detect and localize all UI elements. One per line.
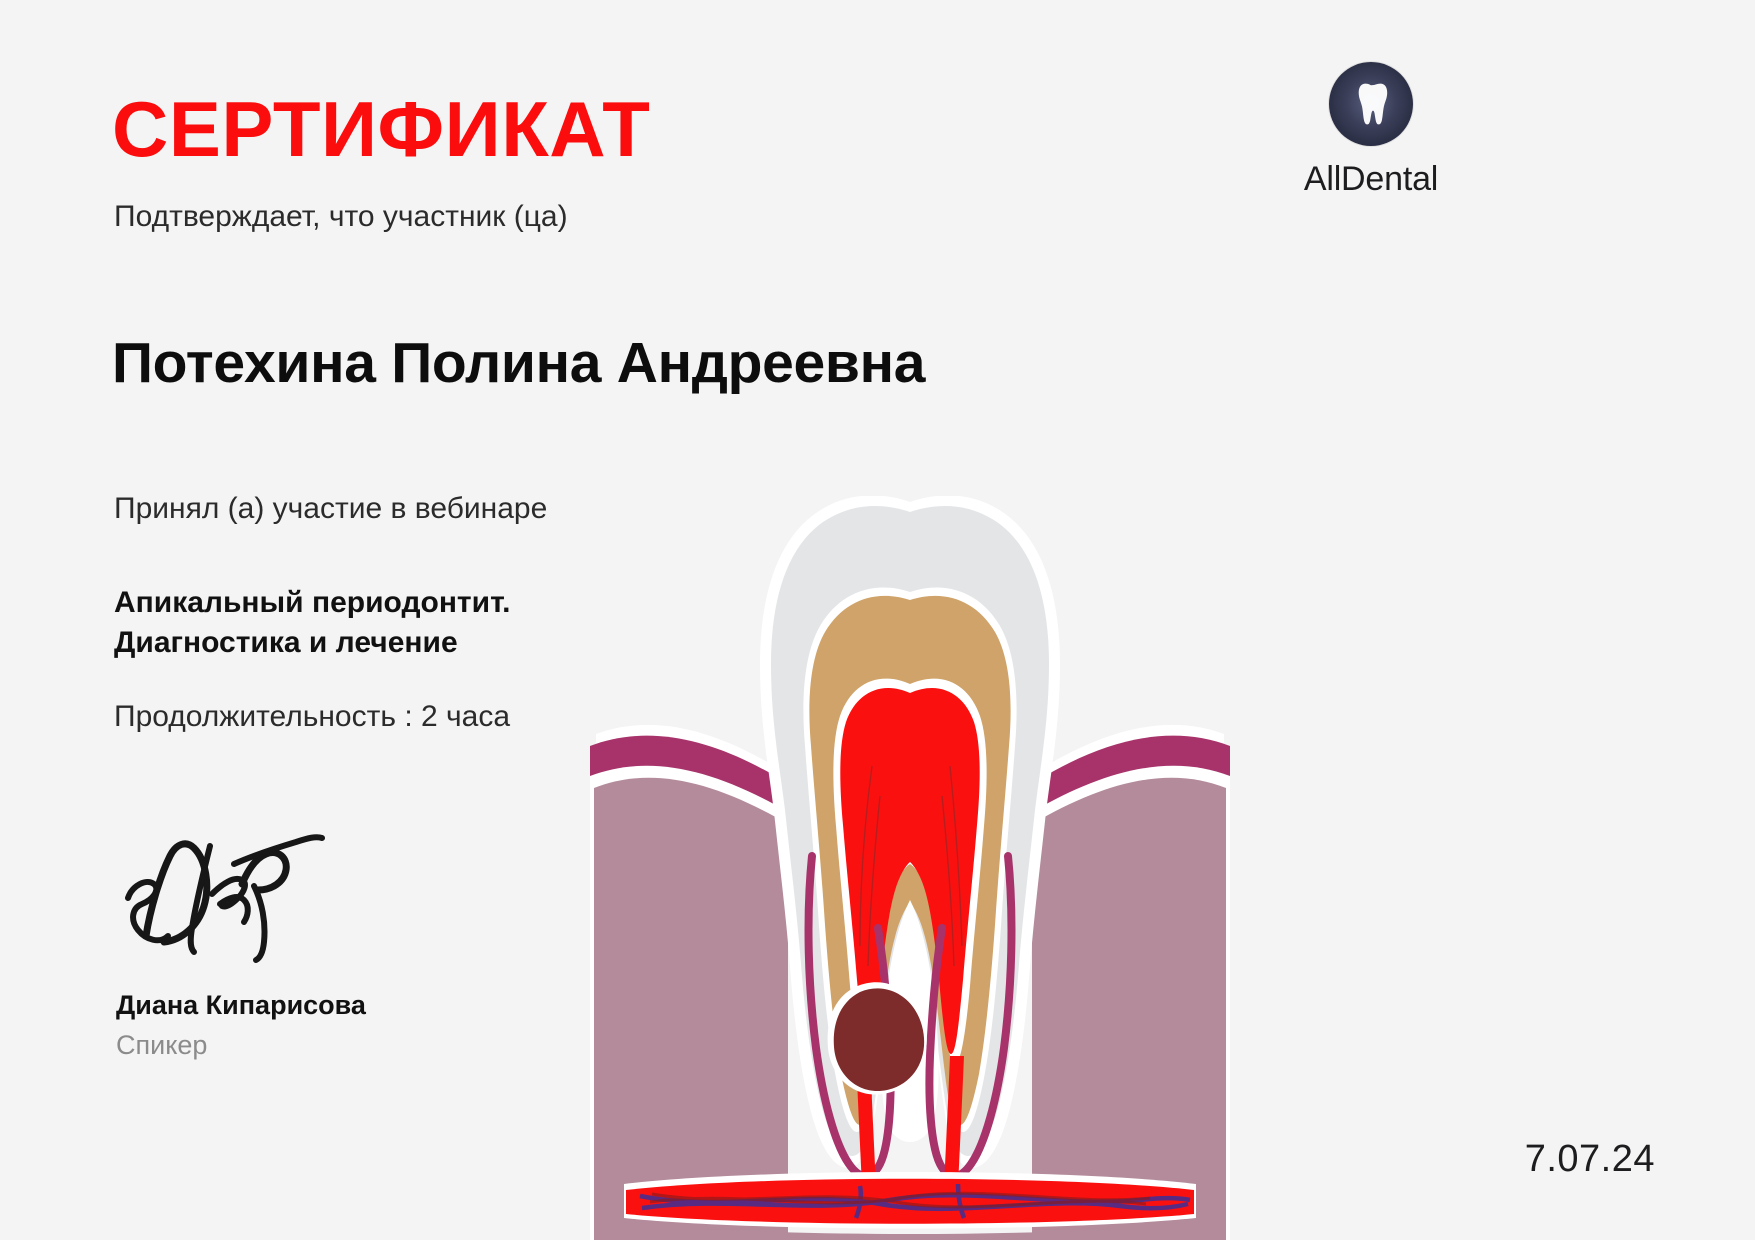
speaker-name: Диана Кипарисова <box>116 990 366 1021</box>
brand-name: AllDental <box>1281 160 1461 199</box>
participant-name: Потехина Полина Андреевна <box>112 330 925 396</box>
gum-left-body <box>594 778 788 1240</box>
participation-line: Принял (а) участие в вебинаре <box>114 492 547 526</box>
confirmation-line: Подтверждает, что участник (ца) <box>114 200 568 234</box>
speaker-role: Спикер <box>116 1030 207 1061</box>
handwritten-signature-icon <box>116 824 396 974</box>
certificate-date: 7.07.24 <box>1525 1138 1655 1181</box>
tooth-cross-section-illustration <box>560 496 1260 1240</box>
gum-right-body <box>1032 778 1226 1240</box>
certificate-page: СЕРТИФИКАТ Подтверждает, что участник (ц… <box>0 0 1755 1240</box>
granuloma-cyst <box>828 982 927 1094</box>
duration-text: Продолжительность : 2 часа <box>114 700 510 734</box>
brand-logo: AllDental <box>1281 62 1461 199</box>
tooth-icon <box>1329 62 1413 146</box>
page-title: СЕРТИФИКАТ <box>112 90 650 168</box>
